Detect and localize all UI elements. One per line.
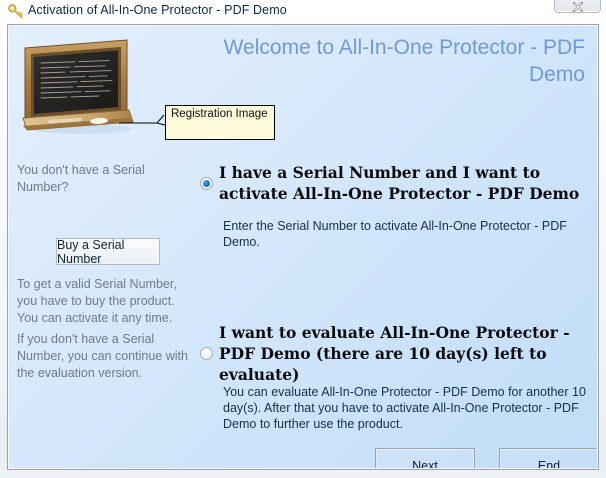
- option-activate-title[interactable]: I have a Serial Number and I want to act…: [219, 162, 591, 204]
- evaluation-info-paragraph: If you don't have a Serial Number, you c…: [17, 331, 189, 382]
- callout-label: Registration Image: [171, 108, 268, 120]
- window-bottom-strip: [0, 470, 606, 478]
- page-title: Welcome to All-In-One Protector - PDF De…: [195, 34, 585, 88]
- next-button[interactable]: Next: [375, 448, 475, 469]
- no-serial-question: You don't have a Serial Number?: [17, 162, 195, 196]
- window-title: Activation of All-In-One Protector - PDF…: [28, 3, 287, 17]
- radio-activate[interactable]: [200, 177, 213, 190]
- dialog-body: Welcome to All-In-One Protector - PDF De…: [8, 25, 598, 469]
- activation-window: Activation of All-In-One Protector - PDF…: [0, 0, 606, 478]
- buy-serial-number-button[interactable]: Buy a Serial Number: [56, 238, 160, 265]
- close-button[interactable]: [554, 0, 601, 13]
- dialog-client-area: Welcome to All-In-One Protector - PDF De…: [7, 24, 599, 470]
- callout-leader-line: [119, 114, 167, 128]
- key-icon: [8, 4, 24, 20]
- option-activate-description: Enter the Serial Number to activate All-…: [223, 218, 598, 250]
- end-button[interactable]: End: [499, 448, 598, 469]
- title-bar: Activation of All-In-One Protector - PDF…: [0, 0, 606, 24]
- radio-evaluate[interactable]: [200, 347, 213, 360]
- option-evaluate-title[interactable]: I want to evaluate All-In-One Protector …: [219, 322, 575, 385]
- close-icon: [572, 0, 584, 12]
- registration-image-callout: Registration Image: [165, 105, 275, 140]
- buy-info-paragraph: To get a valid Serial Number, you have t…: [17, 276, 189, 327]
- option-evaluate-description: You can evaluate All-In-One Protector - …: [223, 384, 598, 432]
